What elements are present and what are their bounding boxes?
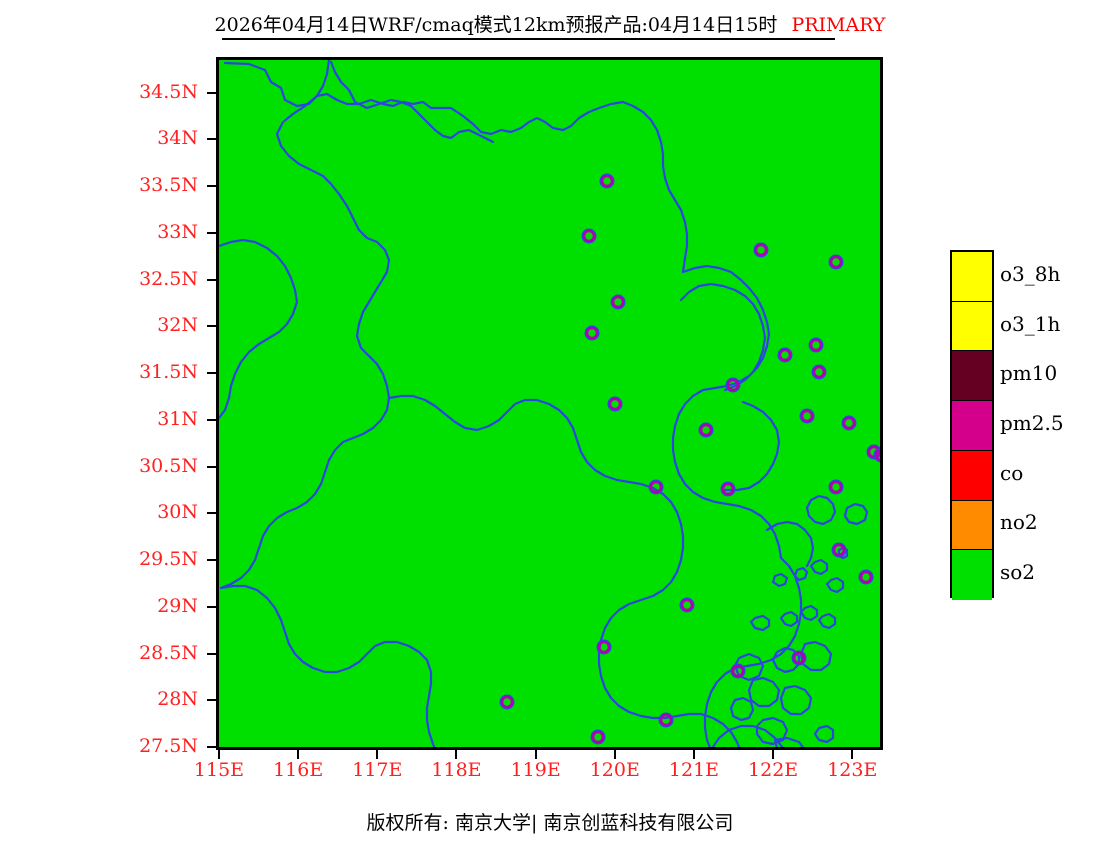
- province-boundary-path: [767, 522, 813, 566]
- station-marker[interactable]: [593, 732, 603, 742]
- title-primary-label: PRIMARY: [791, 14, 885, 36]
- province-boundary-path: [317, 60, 329, 96]
- province-boundary-path: [221, 96, 389, 588]
- station-marker[interactable]: [610, 399, 620, 409]
- province-boundary-path: [819, 614, 835, 628]
- station-marker[interactable]: [811, 340, 821, 350]
- station-marker[interactable]: [831, 257, 841, 267]
- y-tick-label: 33N: [60, 221, 198, 243]
- legend-swatch-co[interactable]: [952, 451, 992, 501]
- y-tick-mark: [207, 559, 216, 561]
- y-tick-mark: [207, 138, 216, 140]
- province-boundary-path: [725, 402, 779, 490]
- y-tick-mark: [207, 372, 216, 374]
- page-title: 2026年04月14日WRF/cmaq模式12km预报产品:04月14日15时P…: [0, 10, 1100, 37]
- x-tick-mark: [772, 750, 774, 759]
- legend-label-pm2-5: pm2.5: [1000, 411, 1064, 435]
- province-boundary-path: [801, 606, 817, 620]
- y-tick-mark: [207, 185, 216, 187]
- y-tick-mark: [207, 232, 216, 234]
- x-tick-mark: [535, 750, 537, 759]
- x-tick-label: 120E: [570, 759, 660, 781]
- province-boundary-path: [773, 574, 787, 586]
- y-tick-mark: [207, 419, 216, 421]
- province-boundary-path: [331, 62, 493, 142]
- legend-swatch-pm10[interactable]: [952, 351, 992, 401]
- y-tick-mark: [207, 92, 216, 94]
- x-tick-label: 116E: [253, 759, 343, 781]
- station-marker[interactable]: [756, 245, 766, 255]
- y-tick-label: 30N: [60, 501, 198, 523]
- station-marker[interactable]: [861, 572, 871, 582]
- y-tick-mark: [207, 653, 216, 655]
- province-boundary-path: [781, 686, 811, 714]
- province-boundary-path: [221, 586, 437, 747]
- station-marker[interactable]: [584, 231, 594, 241]
- legend-label-pm10: pm10: [1000, 361, 1057, 385]
- x-tick-mark: [693, 750, 695, 759]
- y-tick-label: 29N: [60, 595, 198, 617]
- station-marker[interactable]: [780, 350, 790, 360]
- province-boundary-path: [795, 568, 807, 580]
- legend-label-o3-8h: o3_8h: [1000, 262, 1060, 286]
- station-marker[interactable]: [613, 297, 623, 307]
- map-panel[interactable]: [216, 57, 883, 750]
- title-main-text: 2026年04月14日WRF/cmaq模式12km预报产品:04月14日15时: [215, 14, 778, 36]
- x-tick-label: 115E: [174, 759, 264, 781]
- y-tick-mark: [207, 325, 216, 327]
- station-marker[interactable]: [802, 411, 812, 421]
- province-boundary-path: [749, 678, 779, 706]
- province-boundary-path: [807, 496, 835, 524]
- province-boundary-path: [681, 284, 765, 390]
- footer-copyright: 版权所有: 南京大学| 南京创蓝科技有限公司: [0, 808, 1100, 835]
- province-boundary-path: [225, 63, 439, 108]
- province-boundary-path: [815, 726, 833, 742]
- legend-label-no2: no2: [1000, 510, 1038, 534]
- x-tick-mark: [218, 750, 220, 759]
- province-boundary-path: [751, 616, 769, 630]
- station-marker[interactable]: [844, 418, 854, 428]
- y-tick-mark: [207, 466, 216, 468]
- x-tick-mark: [376, 750, 378, 759]
- province-boundary-path: [439, 102, 623, 134]
- province-boundary-path: [673, 266, 781, 558]
- legend-label-so2: so2: [1000, 560, 1035, 584]
- x-tick-label: 123E: [807, 759, 897, 781]
- station-marker[interactable]: [814, 367, 824, 377]
- legend-label-o3-1h: o3_1h: [1000, 312, 1060, 336]
- province-boundary-path: [757, 718, 787, 744]
- y-tick-label: 31N: [60, 408, 198, 430]
- province-boundary-path: [731, 698, 753, 720]
- x-tick-mark: [851, 750, 853, 759]
- y-tick-label: 32N: [60, 314, 198, 336]
- x-tick-label: 118E: [411, 759, 501, 781]
- station-marker[interactable]: [502, 697, 512, 707]
- x-tick-mark: [455, 750, 457, 759]
- province-boundaries: [219, 60, 867, 747]
- y-tick-label: 28N: [60, 688, 198, 710]
- y-tick-label: 31.5N: [60, 361, 198, 383]
- province-boundary-path: [781, 612, 797, 626]
- legend-swatch-no2[interactable]: [952, 501, 992, 551]
- x-tick-label: 119E: [491, 759, 581, 781]
- title-underline: [222, 38, 835, 40]
- legend-swatch-o3-1h[interactable]: [952, 302, 992, 352]
- y-tick-label: 27.5N: [60, 735, 198, 757]
- y-tick-label: 30.5N: [60, 455, 198, 477]
- x-tick-label: 122E: [728, 759, 818, 781]
- legend-swatch-o3-8h[interactable]: [952, 252, 992, 302]
- y-tick-label: 33.5N: [60, 174, 198, 196]
- x-tick-label: 121E: [649, 759, 739, 781]
- province-boundary-path: [705, 558, 801, 747]
- station-marker[interactable]: [661, 715, 671, 725]
- legend-swatch-so2[interactable]: [952, 550, 992, 600]
- y-tick-label: 29.5N: [60, 548, 198, 570]
- y-tick-mark: [207, 606, 216, 608]
- province-boundary-path: [389, 396, 741, 747]
- y-tick-label: 28.5N: [60, 642, 198, 664]
- station-markers: [501, 175, 880, 743]
- map-vector-layer: [219, 60, 880, 747]
- x-tick-label: 117E: [332, 759, 422, 781]
- province-boundary-path: [827, 578, 843, 592]
- y-tick-mark: [207, 746, 216, 748]
- y-tick-label: 34.5N: [60, 81, 198, 103]
- station-marker[interactable]: [701, 425, 711, 435]
- y-tick-label: 34N: [60, 127, 198, 149]
- station-marker[interactable]: [587, 328, 597, 338]
- province-boundary-path: [811, 560, 827, 574]
- province-boundary-path: [623, 102, 687, 272]
- y-tick-mark: [207, 279, 216, 281]
- x-tick-mark: [297, 750, 299, 759]
- province-boundary-path: [711, 726, 789, 747]
- y-tick-label: 32.5N: [60, 268, 198, 290]
- legend-label-co: co: [1000, 461, 1023, 485]
- province-boundary-path: [219, 240, 297, 418]
- station-marker[interactable]: [831, 482, 841, 492]
- station-marker[interactable]: [682, 600, 692, 610]
- legend-colorbar[interactable]: [950, 250, 994, 598]
- legend-swatch-pm2-5[interactable]: [952, 401, 992, 451]
- province-boundary-path: [845, 504, 867, 524]
- y-tick-mark: [207, 512, 216, 514]
- y-tick-mark: [207, 699, 216, 701]
- station-marker[interactable]: [602, 176, 612, 186]
- x-tick-mark: [614, 750, 616, 759]
